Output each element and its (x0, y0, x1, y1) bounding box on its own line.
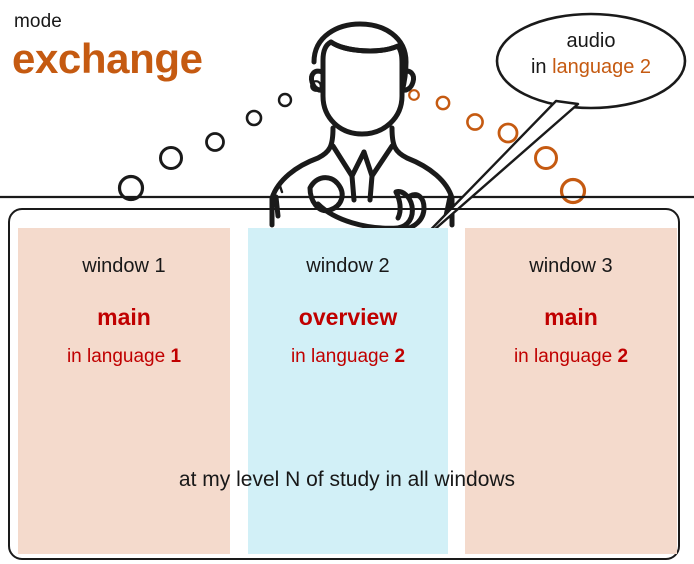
window-panel-1[interactable]: window 1 main in language 1 (18, 228, 230, 554)
orange-circle-bubbles (409, 90, 584, 202)
speech-bubble-line-2: in language 2 (498, 54, 684, 80)
window-panel-2-title: window 2 (248, 256, 448, 276)
window-panel-2-kind: overview (248, 306, 448, 329)
window-panel-3-kind: main (465, 306, 677, 329)
window-panel-3-content: window 3 main in language 2 (465, 228, 677, 366)
window-panel-2-language-prefix: in language (291, 346, 395, 367)
speech-bubble-line-2-prefix: in (531, 56, 552, 78)
person-crossed-arms-figure (272, 24, 452, 229)
window-panel-1-language: in language 1 (18, 347, 230, 366)
window-panel-3-language-prefix: in language (514, 346, 618, 367)
window-panel-1-content: window 1 main in language 1 (18, 228, 230, 366)
mode-label: mode (14, 12, 62, 31)
window-panel-2-language: in language 2 (248, 347, 448, 366)
window-panel-3-title: window 3 (465, 256, 677, 276)
window-panel-1-title: window 1 (18, 256, 230, 276)
page-title: exchange (12, 38, 203, 80)
audio-speech-bubble: audio in language 2 (498, 28, 684, 81)
level-note: at my level N of study in all windows (0, 469, 694, 490)
window-panel-3[interactable]: window 3 main in language 2 (465, 228, 677, 554)
speech-bubble-line-2-accent: language 2 (552, 56, 651, 78)
speech-bubble-line-1: audio (498, 28, 684, 54)
window-panel-2-content: window 2 overview in language 2 (248, 228, 448, 366)
window-panel-3-language-number: 2 (617, 346, 628, 367)
tick-mark (280, 186, 282, 192)
window-panel-1-language-prefix: in language (67, 346, 171, 367)
black-circle-bubbles (120, 81, 321, 199)
window-panel-3-language: in language 2 (465, 347, 677, 366)
window-panel-2[interactable]: window 2 overview in language 2 (248, 228, 448, 554)
window-panel-1-kind: main (18, 306, 230, 329)
window-panel-2-language-number: 2 (394, 346, 405, 367)
window-panel-1-language-number: 1 (170, 346, 181, 367)
